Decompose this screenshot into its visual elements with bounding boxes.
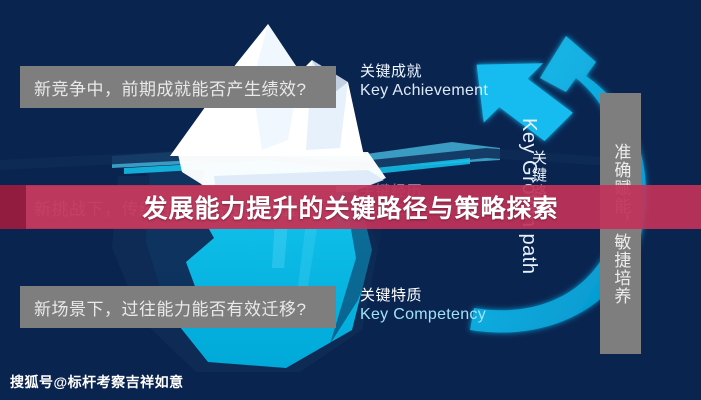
label-key-achievement-cn: 关键成就 <box>360 62 488 81</box>
caption-box-bottom-text: 新场景下，过往能力能否有效迁移? <box>34 295 306 320</box>
label-key-achievement: 关键成就 Key Achievement <box>360 62 488 102</box>
infographic-canvas: 关键成就 Key Achievement 关键经历 Key Experience… <box>0 0 701 400</box>
page-title: 发展能力提升的关键路径与策略探索 <box>0 185 701 229</box>
page-title-text: 发展能力提升的关键路径与策略探索 <box>142 189 558 225</box>
caption-box-top-text: 新竞争中，前期成就能否产生绩效? <box>34 75 306 100</box>
label-key-competency-en: Key Competency <box>360 305 486 325</box>
watermark: 搜狐号@标杆考察吉祥如意 <box>10 372 184 392</box>
caption-box-bottom: 新场景下，过往能力能否有效迁移? <box>20 286 336 328</box>
label-key-achievement-en: Key Achievement <box>360 81 488 101</box>
caption-box-top: 新竞争中，前期成就能否产生绩效? <box>20 66 336 108</box>
watermark-text: 搜狐号@标杆考察吉祥如意 <box>10 374 184 390</box>
label-key-competency: 关键特质 Key Competency <box>360 286 486 326</box>
label-key-competency-cn: 关键特质 <box>360 286 486 305</box>
